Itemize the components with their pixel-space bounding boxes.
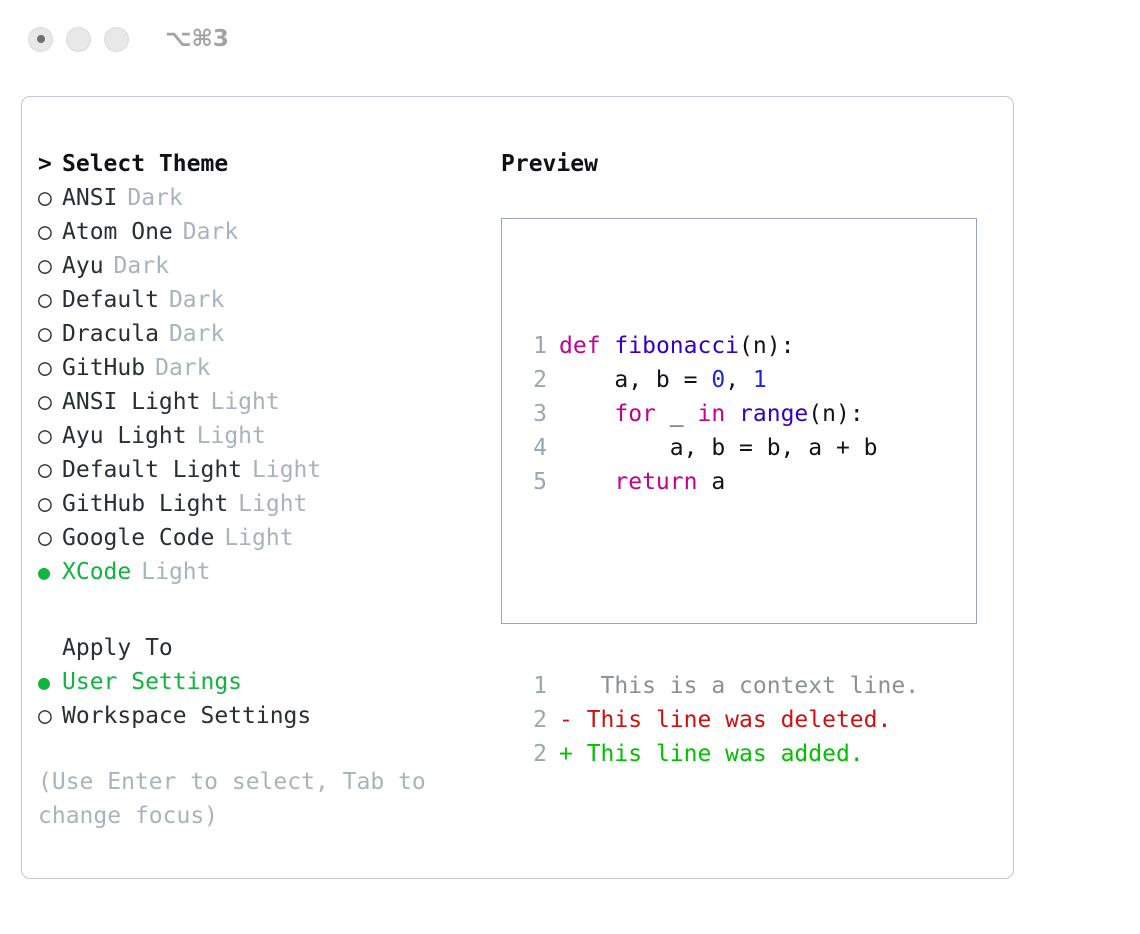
code-line-text: a, b = 0, 1 — [559, 363, 767, 397]
code-line: 5 return a — [519, 465, 919, 499]
code-token-fn: fibonacci — [614, 333, 739, 359]
theme-list-item[interactable]: ○ANSIDark — [38, 181, 488, 215]
radio-unselected-icon[interactable]: ○ — [38, 249, 62, 283]
theme-name-label: ANSI Light — [62, 385, 200, 419]
theme-name-label: Google Code — [62, 521, 214, 555]
theme-list-item[interactable]: ○GitHub LightLight — [38, 487, 488, 521]
code-line: 3 for _ in range(n): — [519, 397, 919, 431]
theme-name-label: GitHub — [62, 351, 145, 385]
line-number: 1 — [519, 669, 547, 703]
code-line-text: def fibonacci(n): — [559, 329, 794, 363]
select-theme-header-label: Select Theme — [62, 147, 228, 181]
code-token-plain: _ — [656, 401, 698, 427]
apply-to-item-label: Workspace Settings — [62, 699, 311, 733]
select-theme-header: > Select Theme — [38, 147, 488, 181]
theme-list-item[interactable]: ○AyuDark — [38, 249, 488, 283]
code-token-kw: def — [559, 333, 601, 359]
apply-to-header: o Apply To — [38, 631, 488, 665]
theme-variant-tag: Dark — [183, 215, 238, 249]
diff-line-text: + This line was added. — [559, 737, 864, 771]
window-controls — [28, 27, 129, 52]
radio-selected-icon[interactable]: ● — [38, 665, 62, 699]
theme-name-label: Default — [62, 283, 159, 317]
diff-marker: + — [559, 741, 573, 767]
window-dot-second[interactable] — [66, 27, 91, 52]
code-token-plain: a, b = — [559, 367, 711, 393]
diff-line: 2+ This line was added. — [519, 737, 919, 771]
theme-variant-tag: Light — [224, 521, 293, 555]
theme-name-label: Ayu Light — [62, 419, 187, 453]
theme-name-label: Atom One — [62, 215, 173, 249]
code-line: 4 a, b = b, a + b — [519, 431, 919, 465]
theme-list-item[interactable]: ○Google CodeLight — [38, 521, 488, 555]
theme-name-label: Dracula — [62, 317, 159, 351]
theme-picker-screen: ⌥⌘3 > Select Theme ○ANSIDark○Atom OneDar… — [0, 0, 1140, 934]
theme-list: ○ANSIDark○Atom OneDark○AyuDark○DefaultDa… — [38, 181, 488, 589]
code-token-plain — [725, 401, 739, 427]
caret-right-icon: > — [38, 147, 62, 181]
diff-line: 2- This line was deleted. — [519, 703, 919, 737]
code-token-plain: (n): — [808, 401, 863, 427]
code-token-num: 1 — [753, 367, 767, 393]
theme-name-label: GitHub Light — [62, 487, 228, 521]
code-token-kw: in — [697, 401, 725, 427]
radio-unselected-icon[interactable]: ○ — [38, 521, 62, 555]
theme-name-label: Ayu — [62, 249, 104, 283]
diff-body: This line was added. — [573, 741, 864, 767]
theme-variant-tag: Light — [238, 487, 307, 521]
theme-list-item[interactable]: ○Default LightLight — [38, 453, 488, 487]
window-dot-third[interactable] — [104, 27, 129, 52]
preview-column: Preview 1def fibonacci(n):2 a, b = 0, 13… — [501, 147, 991, 624]
theme-name-label: ANSI — [62, 181, 117, 215]
code-line-text: a, b = b, a + b — [559, 431, 878, 465]
radio-unselected-icon[interactable]: ○ — [38, 215, 62, 249]
line-number: 1 — [519, 329, 547, 363]
code-token-kw: return — [614, 469, 697, 495]
theme-list-item[interactable]: ○DraculaDark — [38, 317, 488, 351]
theme-variant-tag: Dark — [127, 181, 182, 215]
diff-marker: - — [559, 707, 573, 733]
main-panel: > Select Theme ○ANSIDark○Atom OneDark○Ay… — [21, 96, 1014, 879]
radio-unselected-icon[interactable]: ○ — [38, 419, 62, 453]
code-token-plain: (n): — [739, 333, 794, 359]
code-token-plain — [559, 469, 614, 495]
preview-box: 1def fibonacci(n):2 a, b = 0, 13 for _ i… — [501, 218, 977, 624]
apply-to-list: ●User Settings○Workspace Settings — [38, 665, 488, 733]
code-line-text: for _ in range(n): — [559, 397, 864, 431]
theme-name-label: XCode — [62, 555, 131, 589]
code-sample: 1def fibonacci(n):2 a, b = 0, 13 for _ i… — [519, 329, 919, 499]
line-number: 2 — [519, 703, 547, 737]
preview-code-block: 1def fibonacci(n):2 a, b = 0, 13 for _ i… — [519, 261, 919, 839]
diff-body: This is a context line. — [573, 673, 919, 699]
window-titlebar: ⌥⌘3 — [0, 0, 1140, 78]
radio-unselected-icon[interactable]: ○ — [38, 385, 62, 419]
keyboard-hint-text: (Use Enter to select, Tab to change focu… — [38, 765, 448, 833]
diff-sample: 1 This is a context line.2- This line wa… — [519, 669, 919, 771]
preview-title: Preview — [501, 147, 991, 181]
code-line: 1def fibonacci(n): — [519, 329, 919, 363]
theme-variant-tag: Dark — [114, 249, 169, 283]
radio-unselected-icon[interactable]: ○ — [38, 487, 62, 521]
theme-list-item[interactable]: ○Ayu LightLight — [38, 419, 488, 453]
window-dot-active[interactable] — [28, 27, 53, 52]
code-line: 2 a, b = 0, 1 — [519, 363, 919, 397]
theme-variant-tag: Dark — [155, 351, 210, 385]
theme-list-item[interactable]: ●XCodeLight — [38, 555, 488, 589]
line-number: 5 — [519, 465, 547, 499]
column-spacer — [38, 589, 488, 631]
line-number: 2 — [519, 737, 547, 771]
apply-to-header-bullet-spacer: o — [38, 631, 62, 665]
line-number: 3 — [519, 397, 547, 431]
theme-list-item[interactable]: ○DefaultDark — [38, 283, 488, 317]
theme-selection-column: > Select Theme ○ANSIDark○Atom OneDark○Ay… — [38, 147, 488, 833]
theme-variant-tag: Dark — [169, 283, 224, 317]
code-token-plain — [559, 401, 614, 427]
theme-list-item[interactable]: ○GitHubDark — [38, 351, 488, 385]
radio-unselected-icon[interactable]: ○ — [38, 317, 62, 351]
theme-list-item[interactable]: ○Atom OneDark — [38, 215, 488, 249]
radio-unselected-icon[interactable]: ○ — [38, 283, 62, 317]
theme-variant-tag: Light — [141, 555, 210, 589]
diff-body: This line was deleted. — [573, 707, 892, 733]
line-number: 4 — [519, 431, 547, 465]
theme-variant-tag: Light — [197, 419, 266, 453]
apply-to-item[interactable]: ●User Settings — [38, 665, 488, 699]
theme-name-label: Default Light — [62, 453, 242, 487]
line-number: 2 — [519, 363, 547, 397]
code-token-plain — [601, 333, 615, 359]
radio-unselected-icon[interactable]: ○ — [38, 453, 62, 487]
radio-unselected-icon[interactable]: ○ — [38, 351, 62, 385]
code-line-text: return a — [559, 465, 725, 499]
theme-list-item[interactable]: ○ANSI LightLight — [38, 385, 488, 419]
theme-variant-tag: Dark — [169, 317, 224, 351]
code-token-num: 0 — [711, 367, 725, 393]
apply-to-item-label: User Settings — [62, 665, 242, 699]
code-token-plain: a, b = b, a + b — [559, 435, 878, 461]
code-token-kw: for — [614, 401, 656, 427]
window-dot-active-inner — [37, 35, 45, 43]
keyboard-shortcut-label: ⌥⌘3 — [165, 26, 229, 52]
diff-marker — [559, 673, 573, 699]
radio-selected-icon[interactable]: ● — [38, 555, 62, 589]
diff-line-text: This is a context line. — [559, 669, 919, 703]
code-token-plain: a — [697, 469, 725, 495]
apply-to-item[interactable]: ○Workspace Settings — [38, 699, 488, 733]
code-diff-separator — [519, 567, 919, 601]
theme-variant-tag: Light — [252, 453, 321, 487]
code-token-plain: , — [725, 367, 753, 393]
radio-unselected-icon[interactable]: ○ — [38, 181, 62, 215]
apply-to-header-label: Apply To — [62, 631, 173, 665]
radio-unselected-icon[interactable]: ○ — [38, 699, 62, 733]
diff-line: 1 This is a context line. — [519, 669, 919, 703]
code-token-fn: range — [739, 401, 808, 427]
diff-line-text: - This line was deleted. — [559, 703, 891, 737]
theme-variant-tag: Light — [210, 385, 279, 419]
